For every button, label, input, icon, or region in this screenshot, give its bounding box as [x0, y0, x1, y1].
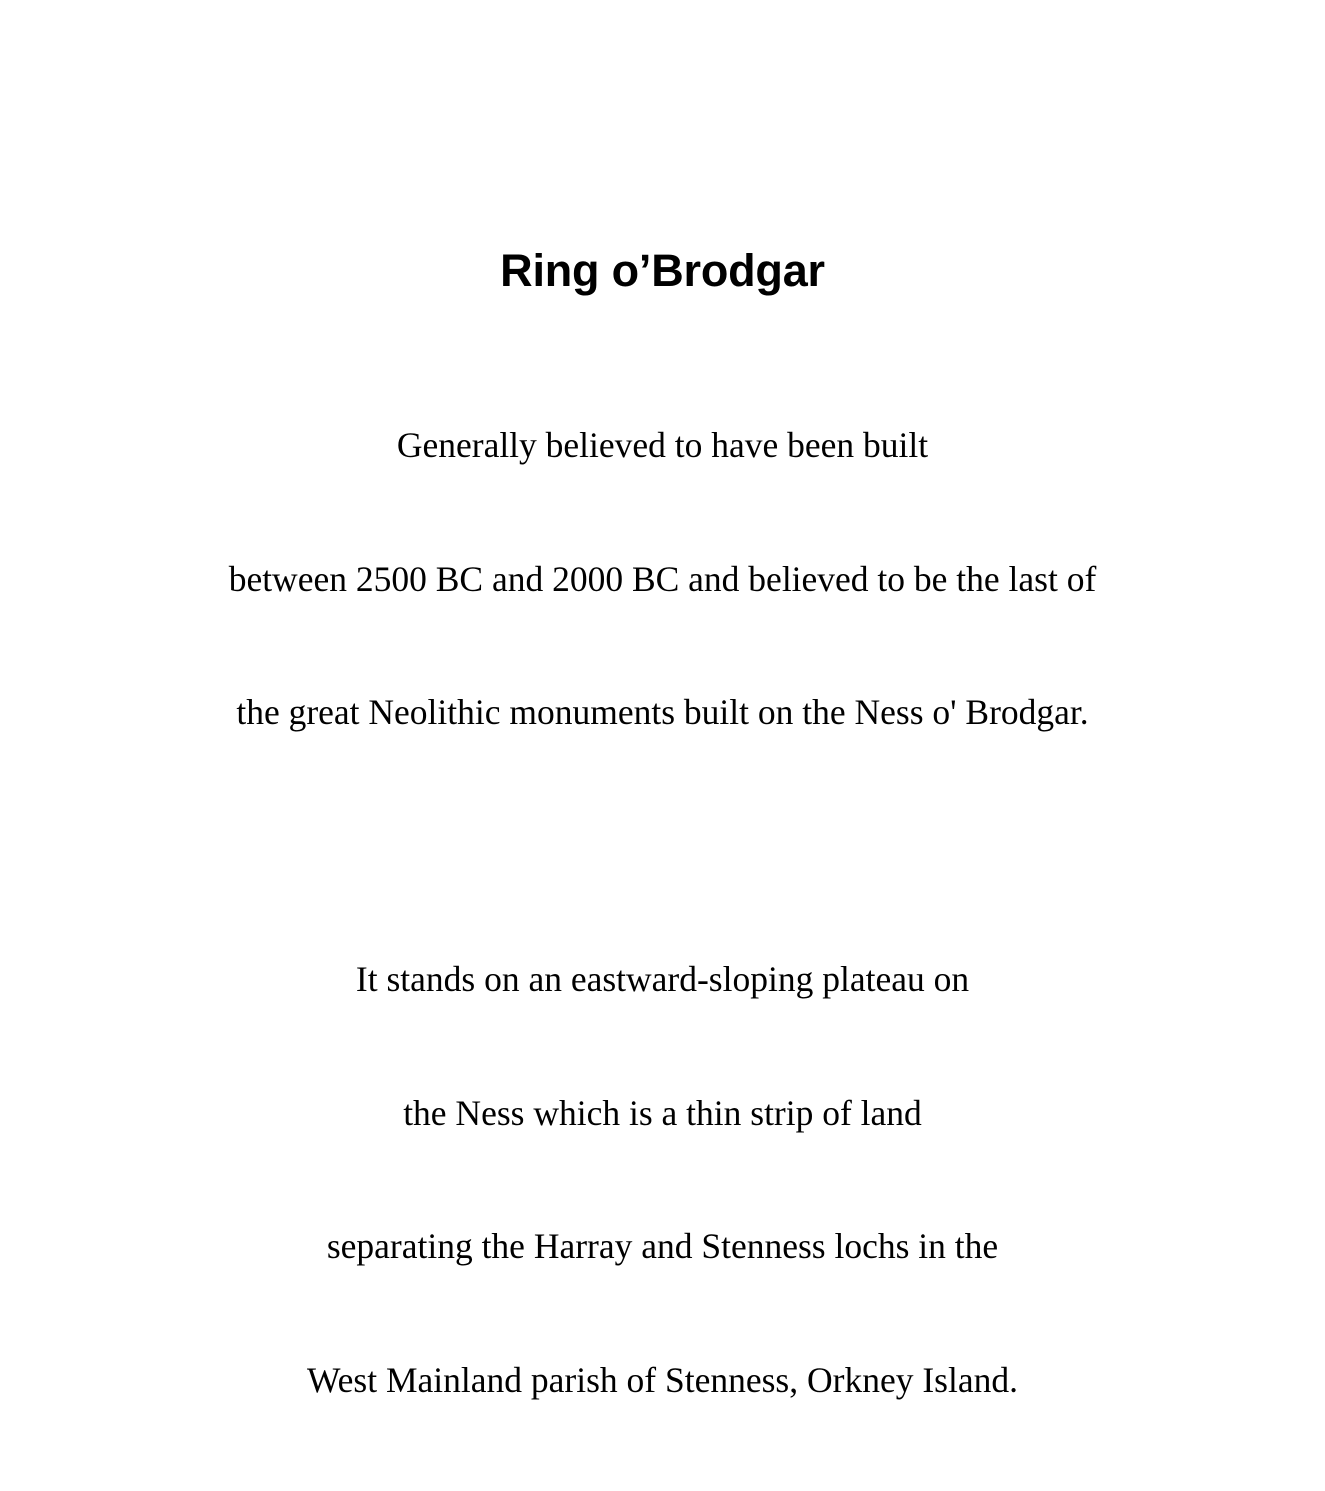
presentation-slide: Ring o’Brodgar Generally believed to hav…: [0, 0, 1325, 1024]
body-line-7: West Mainland parish of Stenness, Orkney…: [0, 1358, 1325, 1403]
body-line-6: separating the Harray and Stenness lochs…: [0, 1224, 1325, 1269]
paragraph-spacer: [0, 824, 1325, 869]
body-line-5: the Ness which is a thin strip of land: [0, 1091, 1325, 1136]
body-line-2: between 2500 BC and 2000 BC and believed…: [0, 557, 1325, 602]
body-line-4: It stands on an eastward-sloping plateau…: [0, 957, 1325, 1002]
body-line-3: the great Neolithic monuments built on t…: [0, 690, 1325, 735]
page-title: Ring o’Brodgar: [0, 245, 1325, 297]
slide-body-text: Generally believed to have been built be…: [0, 334, 1325, 1491]
body-line-1: Generally believed to have been built: [0, 423, 1325, 468]
